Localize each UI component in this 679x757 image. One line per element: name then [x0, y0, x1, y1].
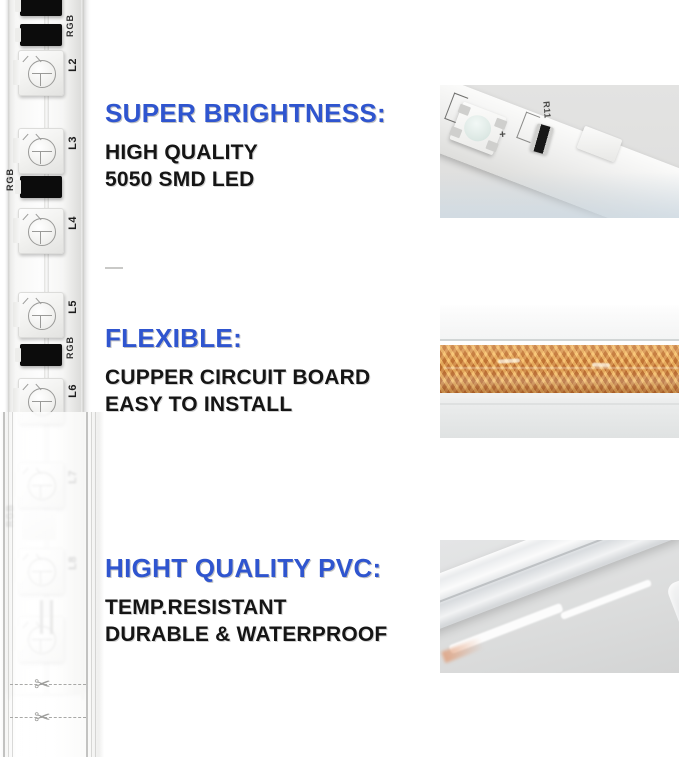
led-chip — [18, 50, 64, 96]
pvc-end-cap — [665, 569, 679, 642]
smd-led-chip — [449, 102, 506, 156]
strip-ic-label: RGB — [6, 168, 15, 191]
strip-ic-label: RGB — [66, 336, 75, 359]
cut-mark: ✂ — [10, 705, 86, 731]
led-chip-label: L4 — [68, 216, 79, 230]
braid-highlight — [444, 367, 679, 369]
cut-mark: ✂ — [10, 672, 86, 698]
sleeve-underside — [440, 398, 679, 438]
pcb-edge-component — [577, 126, 623, 163]
led-chip — [18, 292, 64, 338]
feature-line: CUPPER CIRCUIT BOARD — [105, 365, 435, 391]
photo-pvc-sleeve-end — [440, 540, 679, 673]
feature-heading: SUPER BRIGHTNESS: — [105, 100, 435, 127]
feature-line: HIGH QUALITY — [105, 140, 435, 166]
silkscreen-polarity-label: + — [496, 130, 509, 138]
feature-block-brightness: SUPER BRIGHTNESS: HIGH QUALITY 5050 SMD … — [105, 100, 435, 193]
infographic-page: RGB L2 L3 RGB L4 L5 RGB L6 — [0, 0, 679, 757]
strip-ic-label: RGB — [66, 14, 75, 37]
scissors-icon: ✂ — [34, 706, 51, 730]
strip-ic-block — [20, 24, 62, 46]
led-chip-label: L2 — [68, 58, 79, 72]
sleeve-ridge — [8, 412, 9, 757]
scissors-icon: ✂ — [34, 673, 51, 697]
feature-line: EASY TO INSTALL — [105, 392, 435, 418]
sleeve-gloss — [440, 305, 679, 341]
led-chip — [18, 208, 64, 254]
sleeve-ridge — [95, 412, 96, 757]
sleeve-ridge — [86, 412, 88, 757]
copper-braid — [440, 345, 679, 393]
feature-line: 5050 SMD LED — [105, 167, 435, 193]
led-chip-label: L5 — [68, 300, 79, 314]
photo-haze — [440, 172, 679, 218]
divider-dash — [105, 267, 123, 269]
braid-highlight — [592, 363, 610, 368]
strip-ic-block — [20, 0, 62, 16]
led-chip-label: L3 — [68, 136, 79, 150]
led-chip — [18, 128, 64, 174]
feature-block-flexible: FLEXIBLE: CUPPER CIRCUIT BOARD EASY TO I… — [105, 325, 435, 418]
feature-heading: HIGHT QUALITY PVC: — [105, 555, 435, 582]
feature-line: DURABLE & WATERPROOF — [105, 622, 435, 648]
sleeve-ridge — [3, 412, 5, 757]
feature-line: TEMP.RESISTANT — [105, 595, 435, 621]
strip-ic-block — [20, 176, 62, 198]
photo-copper-circuit-board — [440, 305, 679, 438]
led-chip-label: L6 — [68, 384, 79, 398]
strip-ic-block — [20, 344, 62, 366]
specular-highlight — [560, 579, 652, 620]
sleeve-ridge — [91, 412, 92, 757]
feature-block-pvc: HIGHT QUALITY PVC: TEMP.RESISTANT DURABL… — [105, 555, 435, 648]
photo-5050-smd-led-macro: R11 + D2 — [440, 85, 679, 218]
feature-heading: FLEXIBLE: — [105, 325, 435, 352]
led-strip-column: RGB L2 L3 RGB L4 L5 RGB L6 — [0, 0, 104, 757]
silkscreen-resistor-label: R11 — [541, 101, 552, 119]
